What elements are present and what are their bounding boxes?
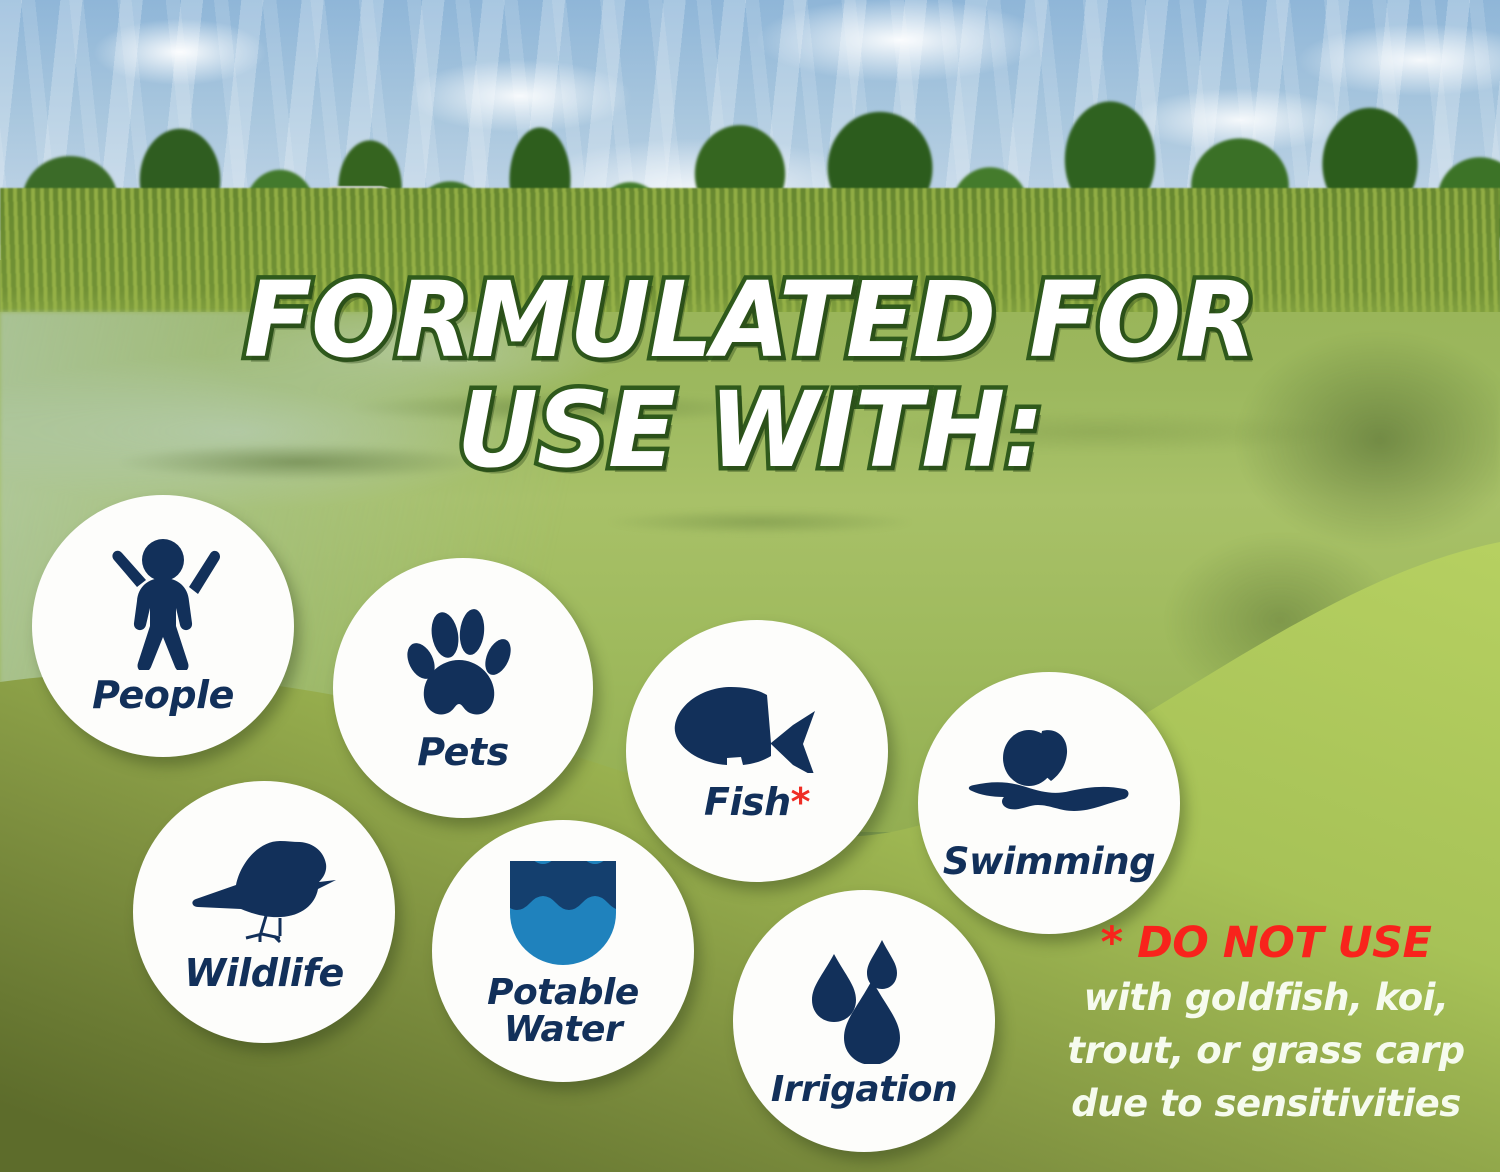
badge-label-people: People (92, 676, 234, 715)
warning-heading: * DO NOT USE (1040, 918, 1492, 968)
badge-label-potable-line2: Water (504, 1009, 622, 1050)
paw-print-icon (403, 605, 523, 727)
water-drop-waves-icon (504, 853, 622, 965)
badge-swimming[interactable]: Swimming (918, 672, 1180, 934)
person-celebrating-icon (104, 538, 222, 670)
badge-pets[interactable]: Pets (333, 558, 593, 818)
warning-line-3: due to sensitivities (1040, 1080, 1492, 1127)
badge-people[interactable]: People (32, 495, 294, 757)
badge-wildlife[interactable]: Wildlife (133, 781, 395, 1043)
warning-line-2: trout, or grass carp (1040, 1027, 1492, 1074)
bird-icon (188, 832, 340, 946)
badge-irrigation[interactable]: Irrigation (733, 890, 995, 1152)
badge-label-irrigation: Irrigation (771, 1072, 957, 1109)
promo-graphic: FORMULATED FOR USE WITH: People Pets Fis… (0, 0, 1500, 1172)
badge-fish[interactable]: Fish* (626, 620, 888, 882)
do-not-use-warning: * DO NOT USE with goldfish, koi, trout, … (1040, 918, 1492, 1127)
badge-label-fish: Fish* (704, 783, 810, 822)
fish-icon (671, 681, 843, 773)
badge-label-potable-water: PotableWater (487, 975, 639, 1048)
badge-label-pets: Pets (417, 733, 508, 772)
swimmer-icon (966, 725, 1132, 835)
badge-label-fish-text: Fish (704, 780, 791, 824)
badge-potable-water[interactable]: PotableWater (432, 820, 694, 1082)
water-droplets-icon (803, 934, 925, 1064)
badge-label-swimming: Swimming (943, 843, 1155, 881)
badge-label-wildlife: Wildlife (184, 954, 344, 993)
warning-line-1: with goldfish, koi, (1040, 974, 1492, 1021)
fish-asterisk: * (791, 780, 810, 824)
badge-label-potable-line1: Potable (487, 972, 639, 1013)
